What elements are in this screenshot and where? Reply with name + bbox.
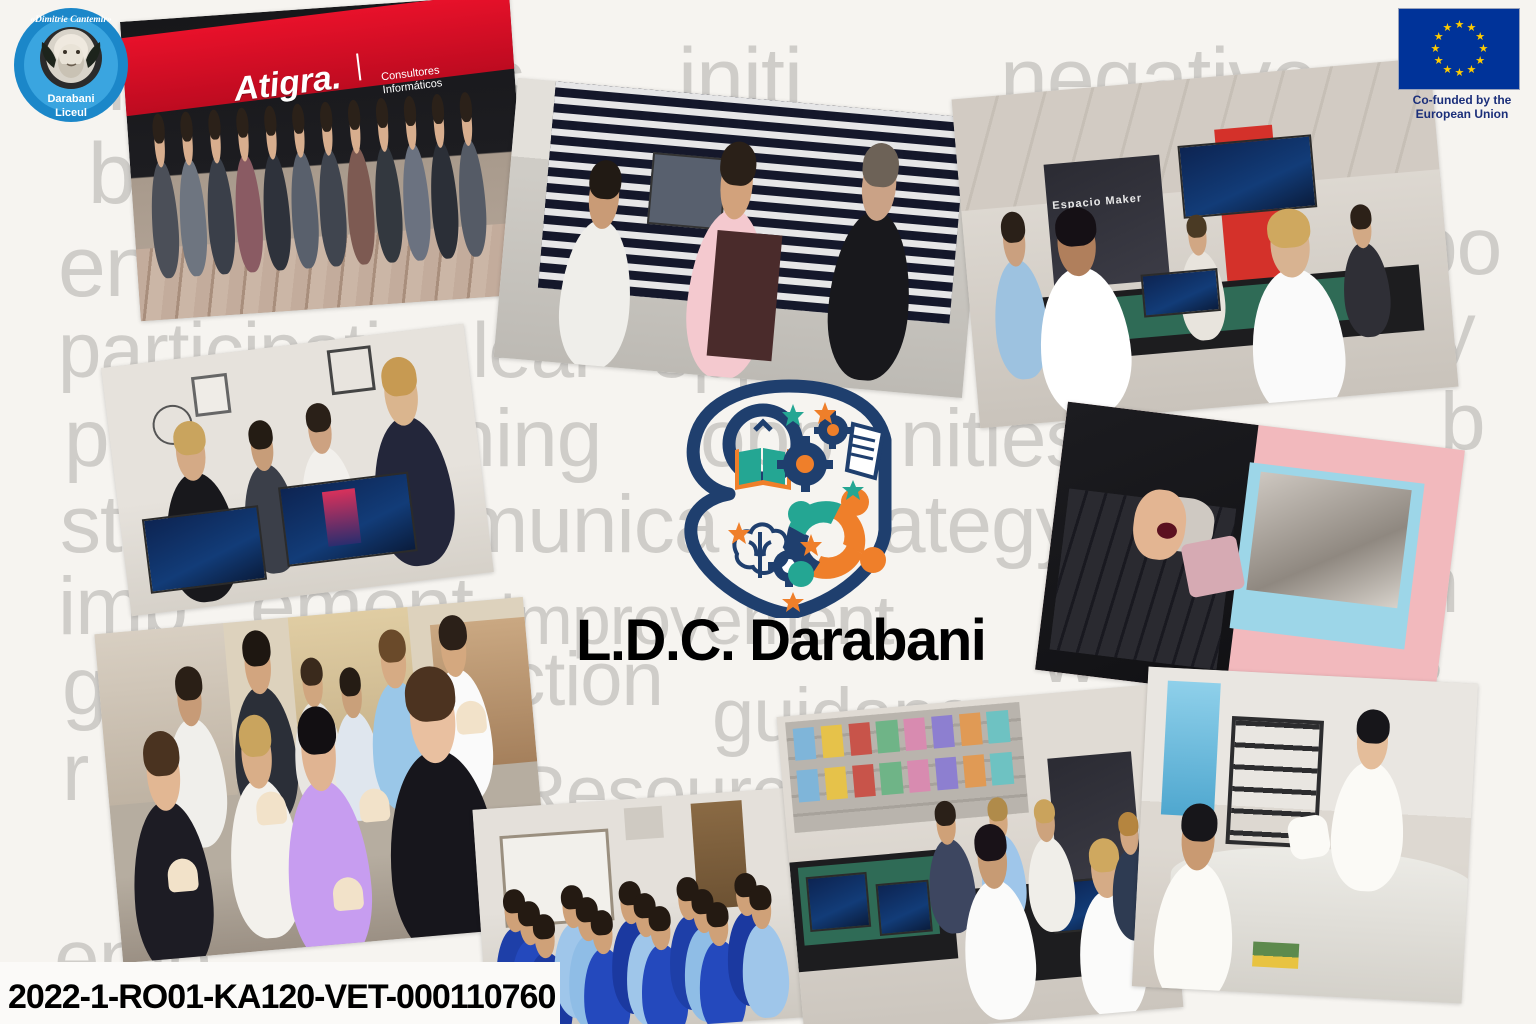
shop-product: [879, 762, 903, 796]
eu-star-icon: ★: [1431, 44, 1441, 55]
document-icon: [847, 424, 883, 478]
apron-strap: [706, 230, 783, 361]
shop-product: [959, 712, 983, 746]
photo-atigra-group: Atigra.ConsultoresInformáticos: [120, 0, 530, 321]
person-hair: [706, 902, 729, 928]
gear-icon: [777, 436, 833, 492]
watermark-word: r: [62, 726, 88, 820]
wall-picture: [191, 373, 232, 417]
eu-text-line1: Co-funded by the: [1398, 94, 1526, 108]
wall-picture-2: [327, 345, 376, 395]
shop-product: [962, 754, 986, 788]
open-book-icon: [735, 422, 791, 490]
eu-funding-text: Co-funded by the European Union: [1398, 94, 1526, 122]
shop-product: [848, 722, 872, 756]
laptop-b: [875, 880, 933, 936]
shop-product: [907, 759, 931, 793]
project-code: 2022-1-RO01-KA120-VET-000110760: [8, 978, 555, 1017]
photo-3d-print-keychain: [1035, 402, 1465, 719]
people-circle-icon: [787, 488, 886, 587]
photo-electronics-workshop: [494, 78, 987, 398]
shop-product: [793, 727, 817, 761]
person-hair: [1180, 803, 1218, 843]
eu-star-icon: ★: [1434, 56, 1444, 67]
photo-maker-space-laptops: [777, 684, 1184, 1024]
project-emblem: [676, 378, 898, 618]
atigra-keychain: [1180, 534, 1245, 598]
shop-product: [990, 752, 1014, 786]
eu-star-icon: ★: [1475, 32, 1485, 43]
person-hair: [590, 910, 613, 936]
shop-product: [935, 757, 959, 791]
window: [1161, 680, 1221, 817]
collage-canvas: onencesinitinegativebrtivityenectionpopa…: [0, 0, 1536, 1024]
person-hair: [648, 906, 671, 932]
ac-unit: [624, 806, 664, 841]
eu-star-icon: ★: [1475, 56, 1485, 67]
eu-star-icon: ★: [1467, 65, 1477, 76]
school-emblem: «Dimitrie Cantemir» Darabani Liceul: [12, 6, 130, 124]
page-title: L.D.C. Darabani: [576, 612, 1096, 670]
school-kind-text: Liceul: [55, 107, 87, 119]
eu-flag-icon: ★★★★★★★★★★★★: [1398, 8, 1520, 90]
person-hair: [532, 914, 555, 940]
eu-star-icon: ★: [1455, 68, 1465, 79]
kitten-photo: [1246, 472, 1411, 608]
sponge: [1252, 941, 1299, 969]
eu-star-icon: ★: [1455, 20, 1465, 31]
gear-icon-small: [814, 411, 852, 449]
shop-product: [986, 710, 1010, 744]
dough: [1285, 813, 1331, 860]
laptop-screen: [1140, 268, 1220, 317]
shop-product: [903, 717, 927, 751]
school-top-text: «Dimitrie Cantemir»: [30, 15, 112, 25]
photo-espacio-maker-lab: Espacio Maker: [952, 58, 1459, 429]
shop-product: [852, 764, 876, 798]
eu-star-icon: ★: [1479, 44, 1489, 55]
school-city-text: Darabani: [47, 93, 94, 105]
eu-star-icon: ★: [1443, 65, 1453, 76]
render-preview: [322, 488, 361, 547]
wall-monitor: [1177, 134, 1317, 218]
laptop-a: [806, 872, 871, 932]
photo-bakery-workshop: [1132, 667, 1478, 1004]
laptop-left: [142, 505, 267, 594]
shop-product: [821, 724, 845, 758]
photo-graphics-classroom: [101, 324, 494, 617]
watermark-word: ategy: [880, 478, 1076, 572]
person-hair: [1356, 709, 1391, 744]
eu-text-line2: European Union: [1398, 108, 1526, 122]
person-hair: [749, 885, 772, 911]
shop-product: [876, 720, 900, 754]
shop-product: [931, 715, 955, 749]
eu-co-funded-logo: ★★★★★★★★★★★★ Co-funded by the European U…: [1398, 8, 1526, 118]
eu-star-icon: ★: [1443, 23, 1453, 34]
shop-product: [824, 766, 848, 800]
shop-product: [797, 769, 821, 803]
